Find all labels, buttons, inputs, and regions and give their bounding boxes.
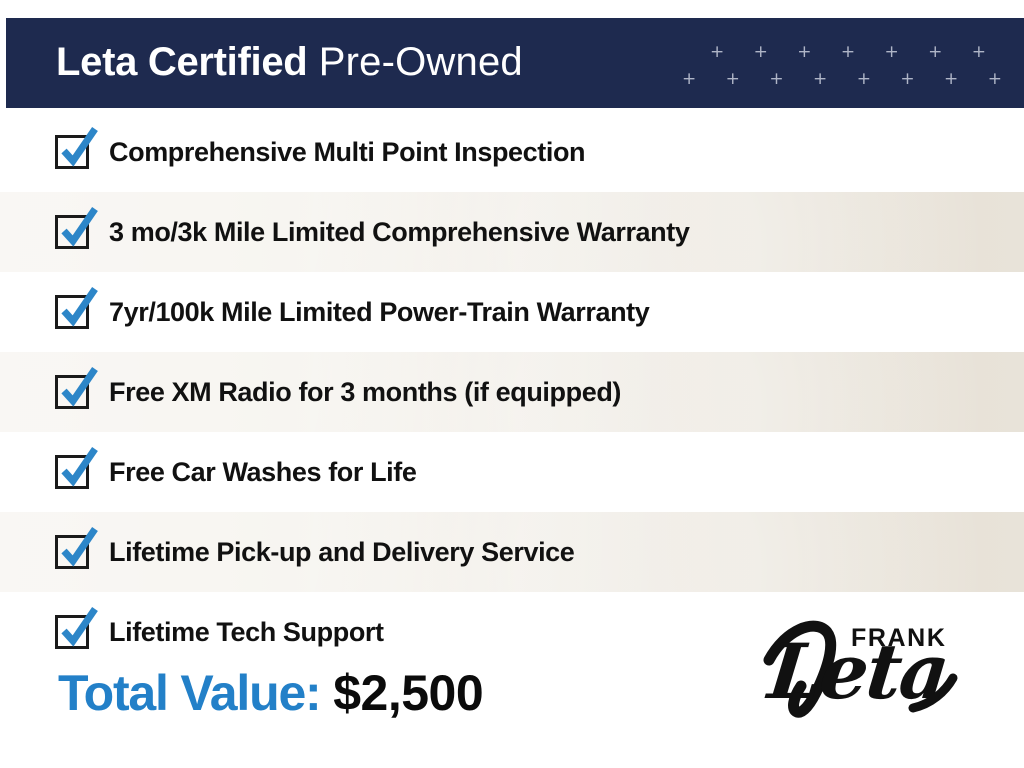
feature-label: 3 mo/3k Mile Limited Comprehensive Warra… <box>109 219 689 246</box>
feature-label: 7yr/100k Mile Limited Power-Train Warran… <box>109 299 649 326</box>
checkbox-checked-icon[interactable] <box>55 295 89 329</box>
plus-icon: + <box>841 44 855 61</box>
plus-pattern-row-bottom: + + + + + + + + <box>682 71 1002 88</box>
plus-icon: + <box>682 71 696 88</box>
checkbox-checked-icon[interactable] <box>55 455 89 489</box>
plus-icon: + <box>928 44 942 61</box>
plus-icon: + <box>944 71 958 88</box>
plus-icon: + <box>857 71 871 88</box>
plus-pattern-row-top: + + + + + + + <box>682 44 1002 61</box>
feature-row: Lifetime Pick-up and Delivery Service <box>0 512 1024 592</box>
checkbox-checked-icon[interactable] <box>55 535 89 569</box>
plus-icon: + <box>813 71 827 88</box>
plus-icon: + <box>769 71 783 88</box>
plus-icon: + <box>754 44 768 61</box>
checkbox-checked-icon[interactable] <box>55 615 89 649</box>
plus-icon: + <box>900 71 914 88</box>
plus-pattern-decoration: + + + + + + + + + + + + + + + <box>682 44 1002 92</box>
page-title: Leta Certified Pre-Owned <box>56 42 523 82</box>
plus-icon: + <box>710 44 724 61</box>
plus-icon: + <box>797 44 811 61</box>
feature-row: 7yr/100k Mile Limited Power-Train Warran… <box>0 272 1024 352</box>
plus-icon: + <box>972 44 986 61</box>
total-value-label: Total Value: <box>58 665 321 721</box>
feature-row: Free Car Washes for Life <box>0 432 1024 512</box>
feature-label: Lifetime Tech Support <box>109 619 384 646</box>
frank-leta-logo: FRANK Leta <box>763 612 963 730</box>
page-title-strong: Leta Certified <box>56 40 307 84</box>
logo-leta-script: Leta <box>765 634 951 710</box>
feature-row: 3 mo/3k Mile Limited Comprehensive Warra… <box>0 192 1024 272</box>
header-banner: Leta Certified Pre-Owned + + + + + + + +… <box>6 18 1024 108</box>
page-title-light: Pre-Owned <box>319 40 523 84</box>
checkbox-checked-icon[interactable] <box>55 375 89 409</box>
feature-list: Comprehensive Multi Point Inspection 3 m… <box>0 112 1024 672</box>
plus-icon: + <box>885 44 899 61</box>
feature-row: Free XM Radio for 3 months (if equipped) <box>0 352 1024 432</box>
feature-label: Lifetime Pick-up and Delivery Service <box>109 539 574 566</box>
plus-icon: + <box>726 71 740 88</box>
feature-label: Free Car Washes for Life <box>109 459 417 486</box>
total-value: Total Value: $2,500 <box>58 668 483 718</box>
checkbox-checked-icon[interactable] <box>55 135 89 169</box>
plus-icon: + <box>988 71 1002 88</box>
feature-row: Comprehensive Multi Point Inspection <box>0 112 1024 192</box>
total-value-spacer <box>321 665 334 721</box>
feature-label: Free XM Radio for 3 months (if equipped) <box>109 379 621 406</box>
certified-pre-owned-poster: Leta Certified Pre-Owned + + + + + + + +… <box>0 0 1024 768</box>
checkbox-checked-icon[interactable] <box>55 215 89 249</box>
page-title-light-spacer <box>307 40 318 84</box>
feature-label: Comprehensive Multi Point Inspection <box>109 139 585 166</box>
total-value-amount: $2,500 <box>333 665 483 721</box>
